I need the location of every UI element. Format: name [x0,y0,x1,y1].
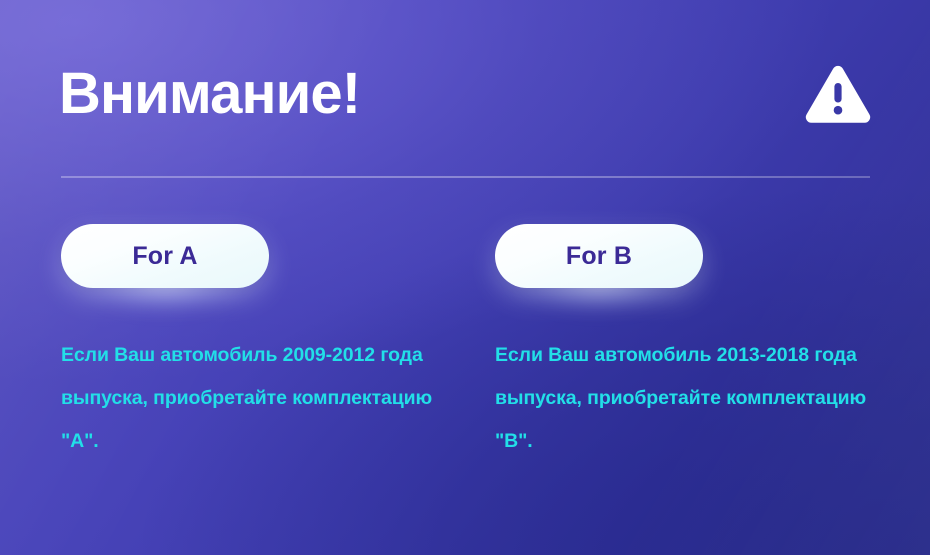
page-title: Внимание! [59,58,360,130]
option-column-b: For B Если Ваш автомобиль 2013-2018 года… [495,224,925,463]
options-columns: For A Если Ваш автомобиль 2009-2012 года… [0,224,930,463]
for-b-button-label: For B [566,242,632,271]
for-b-pill-wrap: For B [495,224,703,288]
attention-notice-slide: Внимание! For A Если Ваш автомобиль 2009 [0,0,930,555]
for-a-button[interactable]: For A [61,224,269,288]
header-divider [61,176,870,178]
option-b-description: Если Ваш автомобиль 2013-2018 года выпус… [495,334,887,463]
for-b-button[interactable]: For B [495,224,703,288]
option-column-a: For A Если Ваш автомобиль 2009-2012 года… [61,224,491,463]
for-a-pill-wrap: For A [61,224,269,288]
for-a-button-label: For A [132,242,197,271]
option-a-description: Если Ваш автомобиль 2009-2012 года выпус… [61,334,453,463]
warning-triangle-icon [804,63,872,125]
